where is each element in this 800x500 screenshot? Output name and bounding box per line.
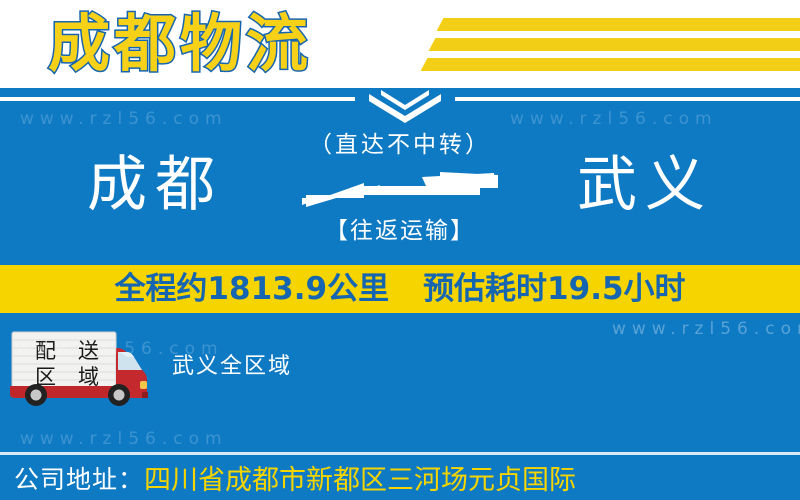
roundtrip-label: 【往返运输】 bbox=[270, 215, 530, 247]
delivery-scope-label: 武义全区域 bbox=[172, 352, 292, 382]
truck-box-char-2: 送 bbox=[78, 338, 99, 364]
header-stripe-1 bbox=[437, 18, 800, 31]
stats-band: 全程约1813.9公里 预估耗时19.5小时 bbox=[0, 265, 800, 313]
truck-box-text: 配 送 区 域 bbox=[24, 338, 110, 390]
header-stripe-2 bbox=[429, 38, 800, 51]
route-middle-column: （直达不中转） 【往返运输】 bbox=[270, 128, 530, 247]
logistics-banner: 成都物流 成都 （直达不中转） bbox=[0, 0, 800, 500]
delivery-row: 配 送 区 域 武义全区域 bbox=[0, 322, 800, 412]
direct-shipping-label: （直达不中转） bbox=[270, 128, 530, 162]
truck-box-char-3: 区 bbox=[35, 364, 56, 390]
delivery-truck-icon: 配 送 区 域 bbox=[6, 326, 158, 406]
truck-box-char-1: 配 bbox=[35, 338, 56, 364]
distance-stat: 全程约1813.9公里 bbox=[114, 265, 389, 313]
route-block: 成都 （直达不中转） 【往返运输】 武义 bbox=[0, 128, 800, 258]
double-chevron-down-icon bbox=[355, 90, 455, 126]
origin-city: 成都 bbox=[30, 142, 280, 228]
logo-title: 成都物流 bbox=[48, 6, 312, 82]
address-value: 四川省成都市新都区三河场元贞国际 bbox=[144, 458, 576, 497]
company-address-bar: 公司地址： 四川省成都市新都区三河场元贞国际 bbox=[0, 455, 800, 500]
header-stripe-3 bbox=[421, 58, 800, 71]
address-label: 公司地址： bbox=[14, 460, 144, 496]
truck-box-char-4: 域 bbox=[78, 364, 99, 390]
duration-stat: 预估耗时19.5小时 bbox=[423, 265, 686, 313]
bidirectional-arrow-icon bbox=[270, 171, 530, 211]
banner-header: 成都物流 bbox=[0, 0, 800, 88]
destination-city: 武义 bbox=[520, 142, 770, 228]
